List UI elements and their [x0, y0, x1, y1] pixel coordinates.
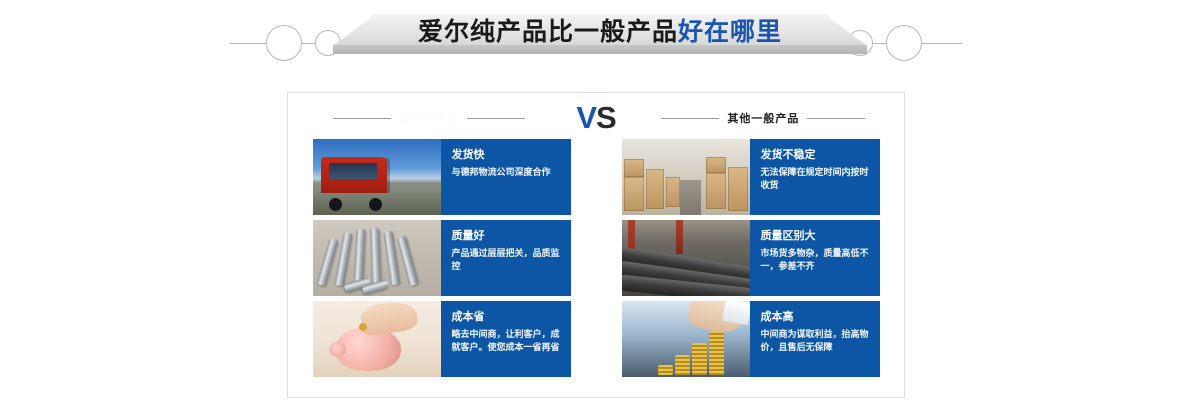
carton-shape — [624, 159, 644, 177]
card-photo-metal-cylinders-on-floor — [313, 220, 441, 296]
card-photo-red-truck-on-highway — [313, 139, 441, 215]
support-post-shape — [676, 220, 683, 254]
page-header: 爱尔纯产品比一般产品好在哪里 — [0, 0, 1200, 86]
pipes-photo-art — [622, 220, 750, 296]
carton-shape — [706, 173, 726, 209]
coin-stack-shape — [692, 343, 707, 375]
page-title-main: 爱尔纯产品比一般产品 — [418, 17, 678, 46]
vs-badge: VS — [570, 100, 621, 136]
vs-left-rule — [467, 118, 525, 119]
metal-photo-art — [313, 220, 441, 296]
wheel-shape — [329, 198, 342, 211]
carton-shape — [624, 177, 644, 211]
carton-shape — [728, 167, 748, 211]
card-other-1[interactable]: 发货不稳定 无法保障在规定时间内按时收货 — [622, 139, 880, 215]
aisle-shape — [680, 180, 700, 215]
card-title: 发货不稳定 — [761, 148, 873, 162]
card-photo-warehouse-stacked-cartons — [622, 139, 750, 215]
card-other-2[interactable]: 质量区别大 市场货多物杂，质量高低不一，参差不齐 — [622, 220, 880, 296]
piggy-bank-photo-art — [313, 301, 441, 377]
card-description: 略去中间商，让利客户，成就客户。使您成本一省再省 — [452, 329, 564, 355]
card-title: 成本高 — [761, 310, 873, 324]
card-text-body: 发货快 与德邦物流公司深度合作 — [441, 139, 571, 215]
card-text-body: 发货不稳定 无法保障在规定时间内按时收货 — [750, 139, 880, 215]
card-our-2[interactable]: 质量好 产品通过层层把关，品质监控 — [313, 220, 571, 296]
warehouse-photo-art — [622, 139, 750, 215]
card-description: 中间商为谋取利益，抬高物价，且售后无保障 — [761, 329, 873, 355]
cylinder-shape — [353, 229, 365, 285]
vs-right-label: 其他一般产品 — [727, 110, 799, 126]
vs-right-rule — [661, 118, 719, 119]
card-description: 市场货多物杂，质量高低不一，参差不齐 — [761, 248, 873, 274]
carton-shape — [706, 157, 726, 173]
card-text-body: 成本高 中间商为谋取利益，抬高物价，且售后无保障 — [750, 301, 880, 377]
card-title: 质量好 — [452, 229, 564, 243]
coin-stack-shape — [709, 331, 724, 375]
card-our-3[interactable]: 成本省 略去中间商，让利客户，成就客户。使您成本一省再省 — [313, 301, 571, 377]
card-title: 发货快 — [452, 148, 564, 162]
card-photo-hand-dropping-coin-into-piggy-bank — [313, 301, 441, 377]
truck-photo-art — [313, 139, 441, 215]
vs-bar: 爱尔纯产品 VS 其他一般产品 — [287, 97, 905, 139]
coin-stack-shape — [675, 355, 690, 375]
carton-shape — [666, 177, 680, 207]
hand-shape — [359, 301, 419, 337]
wheel-shape — [369, 198, 382, 211]
vs-right-side: 其他一般产品 — [622, 110, 905, 126]
card-photo-hand-stacking-gold-coins — [622, 301, 750, 377]
cylinder-shape — [370, 228, 381, 284]
page-title: 爱尔纯产品比一般产品好在哪里 — [0, 12, 1200, 48]
card-description: 与德邦物流公司深度合作 — [452, 167, 564, 180]
card-our-1[interactable]: 发货快 与德邦物流公司深度合作 — [313, 139, 571, 215]
card-description: 无法保障在规定时间内按时收货 — [761, 167, 873, 193]
card-photo-dark-plastic-pipes-stack — [622, 220, 750, 296]
card-text-body: 质量区别大 市场货多物杂，质量高低不一，参差不齐 — [750, 220, 880, 296]
card-title: 成本省 — [452, 310, 564, 324]
vs-right-rule — [807, 118, 865, 119]
comparison-columns: 发货快 与德邦物流公司深度合作 质量好 产品 — [287, 139, 905, 389]
cylinder-shape — [396, 236, 418, 287]
card-description: 产品通过层层把关，品质监控 — [452, 248, 564, 274]
vs-left-label: 爱尔纯产品 — [399, 110, 459, 126]
page-title-accent: 好在哪里 — [678, 17, 782, 46]
piggy-snout-shape — [329, 342, 346, 357]
vs-left-rule — [333, 118, 391, 119]
card-text-body: 成本省 略去中间商，让利客户，成就客户。使您成本一省再省 — [441, 301, 571, 377]
vs-letter-s: S — [596, 100, 616, 135]
coin-stacks-photo-art — [622, 301, 750, 377]
card-text-body: 质量好 产品通过层层把关，品质监控 — [441, 220, 571, 296]
card-other-3[interactable]: 成本高 中间商为谋取利益，抬高物价，且售后无保障 — [622, 301, 880, 377]
vs-letter-v: V — [576, 100, 596, 135]
column-our-products: 发货快 与德邦物流公司深度合作 质量好 产品 — [287, 139, 596, 389]
card-title: 质量区别大 — [761, 229, 873, 243]
coin-stack-shape — [658, 365, 673, 375]
vs-left-side: 爱尔纯产品 — [287, 110, 570, 126]
coin-shape — [359, 323, 367, 331]
column-other-products: 发货不稳定 无法保障在规定时间内按时收货 质量区别大 市场货多物杂，质量高低不一… — [596, 139, 905, 389]
carton-shape — [646, 169, 664, 209]
